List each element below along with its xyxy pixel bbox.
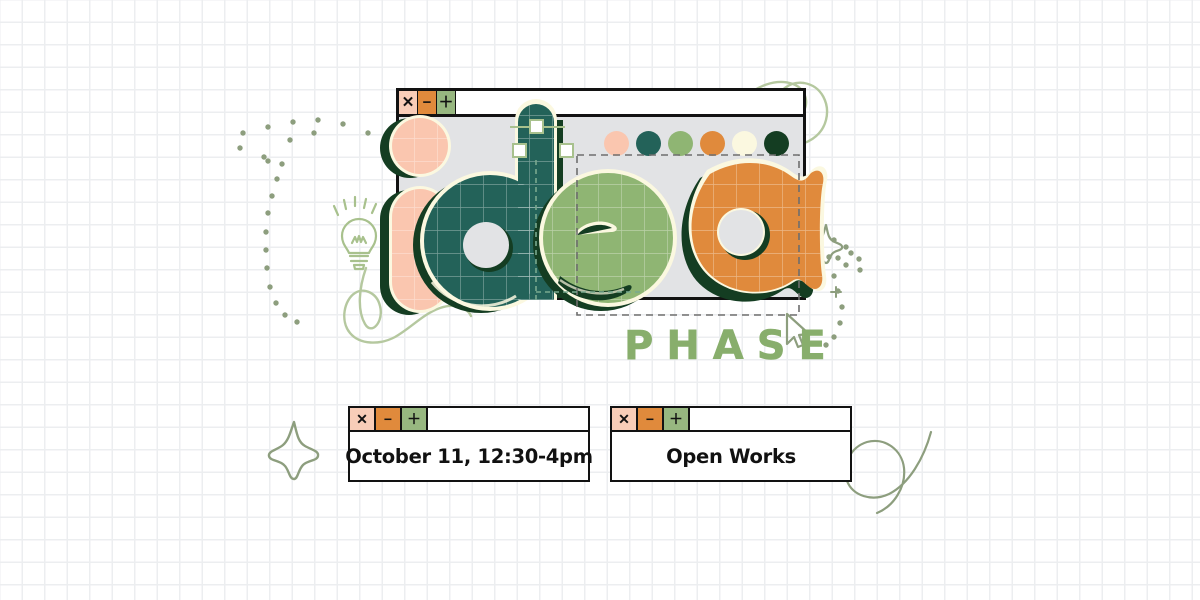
design-window[interactable]: ✕ − ＋ bbox=[396, 88, 806, 300]
info-box-date-body: October 11, 12:30-4pm bbox=[350, 432, 588, 480]
close-icon[interactable]: ✕ bbox=[399, 91, 418, 114]
minimize-icon[interactable]: − bbox=[638, 408, 664, 430]
swatch-sage-green[interactable] bbox=[668, 131, 693, 156]
phase-subtitle: PHASE bbox=[624, 326, 839, 366]
plus-sparkle-icon bbox=[831, 287, 841, 297]
info-box-venue-title-field[interactable] bbox=[690, 408, 850, 430]
close-icon[interactable]: ✕ bbox=[350, 408, 376, 430]
swatch-dark-green[interactable] bbox=[764, 131, 789, 156]
info-box-venue[interactable]: ✕ − ＋ Open Works bbox=[610, 406, 852, 482]
lightbulb-icon bbox=[334, 197, 376, 269]
maximize-icon[interactable]: ＋ bbox=[437, 91, 456, 114]
swatch-dark-teal[interactable] bbox=[636, 131, 661, 156]
sparkle-star-right bbox=[810, 225, 842, 263]
info-box-date-title-field[interactable] bbox=[428, 408, 588, 430]
event-date-text: October 11, 12:30-4pm bbox=[345, 445, 593, 468]
info-box-venue-title-bar: ✕ − ＋ bbox=[612, 408, 850, 432]
swatch-orange[interactable] bbox=[700, 131, 725, 156]
sparkle-star-left bbox=[269, 422, 318, 479]
loop-squiggle-bottom-right bbox=[845, 432, 931, 513]
window-title-field[interactable] bbox=[456, 91, 803, 114]
swatch-cream[interactable] bbox=[732, 131, 757, 156]
color-palette bbox=[604, 131, 789, 156]
minimize-icon[interactable]: − bbox=[376, 408, 402, 430]
window-title-bar: ✕ − ＋ bbox=[399, 91, 803, 117]
minimize-icon[interactable]: − bbox=[418, 91, 437, 114]
maximize-icon[interactable]: ＋ bbox=[664, 408, 690, 430]
close-icon[interactable]: ✕ bbox=[612, 408, 638, 430]
info-box-venue-body: Open Works bbox=[612, 432, 850, 480]
window-canvas bbox=[399, 117, 803, 297]
maximize-icon[interactable]: ＋ bbox=[402, 408, 428, 430]
dotted-path-left bbox=[237, 117, 370, 324]
info-box-date-title-bar: ✕ − ＋ bbox=[350, 408, 588, 432]
poster-canvas: ✕ − ＋ bbox=[0, 0, 1200, 600]
info-box-date[interactable]: ✕ − ＋ October 11, 12:30-4pm bbox=[348, 406, 590, 482]
event-venue-text: Open Works bbox=[666, 445, 796, 468]
swatch-peach[interactable] bbox=[604, 131, 629, 156]
